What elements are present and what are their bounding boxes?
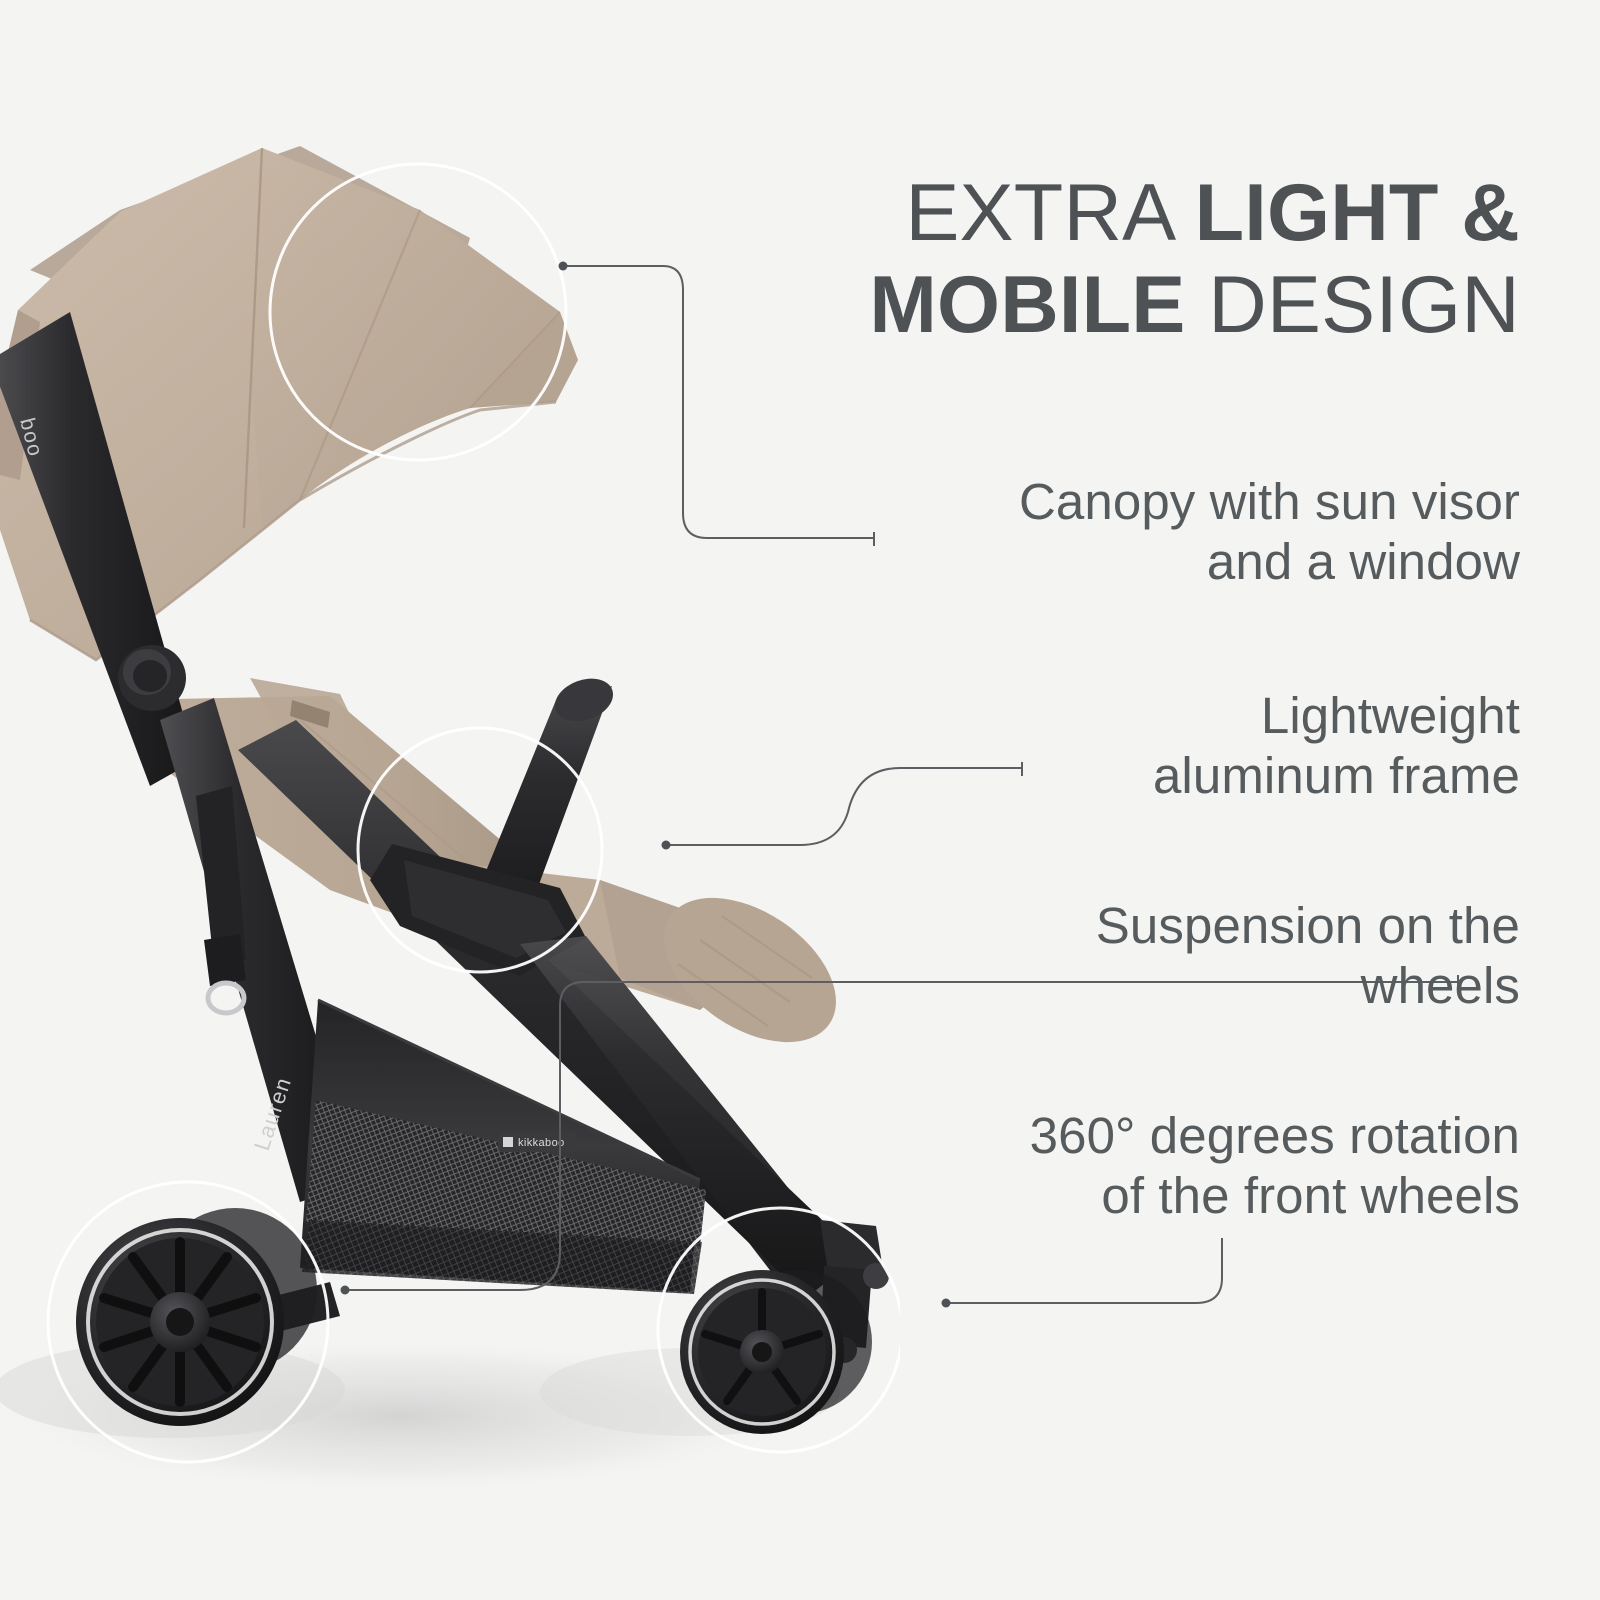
headline-mobile: MOBILE bbox=[869, 260, 1185, 350]
feature-suspension-line2: wheels bbox=[860, 956, 1520, 1016]
feature-frame-line2: aluminum frame bbox=[860, 746, 1520, 806]
headline-light-amp: LIGHT & bbox=[1195, 168, 1520, 258]
feature-label-frame: Lightweight aluminum frame bbox=[860, 686, 1520, 806]
connector-dot-frame bbox=[662, 841, 671, 850]
feature-label-wheels: 360° degrees rotation of the front wheel… bbox=[760, 1106, 1520, 1226]
feature-wheels-line2: of the front wheels bbox=[760, 1166, 1520, 1226]
connector-dot-suspension bbox=[341, 1286, 350, 1295]
headline-design: DESIGN bbox=[1186, 260, 1520, 350]
feature-wheels-line1: 360° degrees rotation bbox=[760, 1106, 1520, 1166]
headline-line-2: MOBILE DESIGN bbox=[800, 260, 1520, 352]
connector-dot-wheels bbox=[942, 1299, 951, 1308]
feature-frame-line1: Lightweight bbox=[860, 686, 1520, 746]
infographic-canvas: boo Lauren bbox=[0, 0, 1600, 1600]
feature-label-canopy: Canopy with sun visor and a window bbox=[760, 472, 1520, 592]
headline-extra: EXTRA bbox=[905, 168, 1194, 258]
feature-canopy-line2: and a window bbox=[760, 532, 1520, 592]
feature-suspension-line1: Suspension on the bbox=[860, 896, 1520, 956]
connector-wheels bbox=[946, 1238, 1222, 1303]
page-title: EXTRA LIGHT & MOBILE DESIGN bbox=[800, 168, 1520, 351]
feature-canopy-line1: Canopy with sun visor bbox=[760, 472, 1520, 532]
feature-label-suspension: Suspension on the wheels bbox=[860, 896, 1520, 1016]
headline-line-1: EXTRA LIGHT & bbox=[800, 168, 1520, 260]
connector-dot-canopy bbox=[559, 262, 568, 271]
